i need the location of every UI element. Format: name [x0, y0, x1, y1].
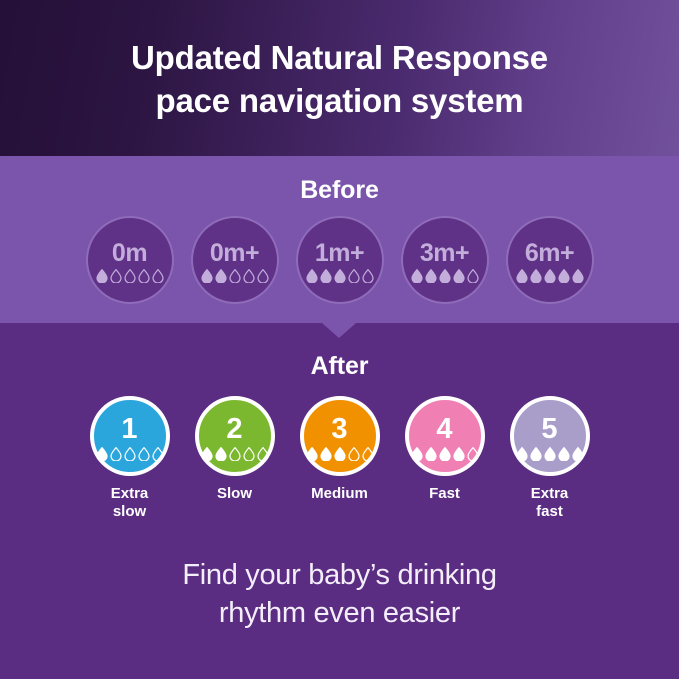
before-age-label: 0m	[112, 240, 147, 266]
water-drop-icon	[152, 447, 164, 461]
page-title: Updated Natural Response pace navigation…	[0, 36, 679, 122]
water-drop-icon	[411, 447, 423, 461]
footer-tagline-line-1: Find your baby’s drinking	[0, 556, 679, 594]
after-pace-label: Extrafast	[507, 485, 593, 521]
water-drop-icon	[348, 447, 360, 461]
water-drop-icon	[138, 447, 150, 461]
water-drop-icon	[152, 269, 164, 283]
before-circle: 1m+	[296, 216, 384, 304]
water-drop-icon	[320, 447, 332, 461]
before-age-label: 0m+	[210, 240, 259, 266]
drop-meter	[96, 269, 164, 282]
water-drop-icon	[124, 269, 136, 283]
after-pace-label-line-1: Extra	[507, 485, 593, 503]
after-pace-label-line-1: Medium	[297, 485, 383, 503]
after-pace-number: 4	[436, 415, 452, 444]
chevron-down-icon	[322, 323, 356, 338]
after-circle: 3	[300, 396, 380, 476]
water-drop-icon	[334, 269, 346, 283]
after-pace-label: Slow	[192, 485, 278, 503]
after-pace-label: Extraslow	[87, 485, 173, 521]
infographic-poster: Updated Natural Response pace navigation…	[0, 0, 679, 679]
water-drop-icon	[530, 269, 542, 283]
water-drop-icon	[439, 269, 451, 283]
before-circle: 6m+	[506, 216, 594, 304]
drop-meter	[411, 447, 479, 460]
water-drop-icon	[201, 269, 213, 283]
water-drop-icon	[138, 269, 150, 283]
water-drop-icon	[425, 269, 437, 283]
water-drop-icon	[320, 269, 332, 283]
before-age-label: 3m+	[420, 240, 469, 266]
water-drop-icon	[439, 447, 451, 461]
water-drop-icon	[243, 447, 255, 461]
drop-meter	[306, 447, 374, 460]
water-drop-icon	[411, 269, 423, 283]
after-pace-number: 5	[541, 415, 557, 444]
header-band: Updated Natural Response pace navigation…	[0, 0, 679, 156]
water-drop-icon	[572, 269, 584, 283]
water-drop-icon	[362, 269, 374, 283]
after-pace-label-line-2: slow	[87, 503, 173, 521]
before-row: 0m0m+1m+3m+6m+	[0, 216, 679, 304]
drop-meter	[201, 269, 269, 282]
after-row: 1Extraslow2Slow3Medium4Fast5Extrafast	[0, 396, 679, 521]
after-pace-number: 1	[121, 415, 137, 444]
after-item: 3Medium	[287, 396, 392, 503]
after-pace-number: 3	[331, 415, 347, 444]
after-item: 5Extrafast	[497, 396, 602, 521]
water-drop-icon	[229, 447, 241, 461]
after-pace-label: Medium	[297, 485, 383, 503]
after-item: 2Slow	[182, 396, 287, 503]
water-drop-icon	[243, 269, 255, 283]
water-drop-icon	[530, 447, 542, 461]
water-drop-icon	[96, 269, 108, 283]
water-drop-icon	[558, 447, 570, 461]
water-drop-icon	[306, 447, 318, 461]
water-drop-icon	[215, 447, 227, 461]
drop-meter	[516, 447, 584, 460]
after-pace-label-line-1: Extra	[87, 485, 173, 503]
water-drop-icon	[257, 269, 269, 283]
water-drop-icon	[558, 269, 570, 283]
before-heading: Before	[0, 176, 679, 205]
before-age-label: 1m+	[315, 240, 364, 266]
water-drop-icon	[453, 269, 465, 283]
before-circle: 0m+	[191, 216, 279, 304]
water-drop-icon	[110, 269, 122, 283]
after-item: 1Extraslow	[77, 396, 182, 521]
drop-meter	[516, 269, 584, 282]
water-drop-icon	[467, 447, 479, 461]
water-drop-icon	[110, 447, 122, 461]
after-heading: After	[0, 352, 679, 381]
before-item: 0m+	[182, 216, 287, 304]
water-drop-icon	[229, 269, 241, 283]
water-drop-icon	[124, 447, 136, 461]
page-title-line-2: pace navigation system	[0, 79, 679, 122]
water-drop-icon	[516, 447, 528, 461]
water-drop-icon	[516, 269, 528, 283]
water-drop-icon	[453, 447, 465, 461]
water-drop-icon	[348, 269, 360, 283]
before-circle: 3m+	[401, 216, 489, 304]
water-drop-icon	[425, 447, 437, 461]
after-circle: 2	[195, 396, 275, 476]
after-circle: 1	[90, 396, 170, 476]
before-item: 6m+	[497, 216, 602, 304]
footer-tagline-line-2: rhythm even easier	[0, 594, 679, 632]
water-drop-icon	[334, 447, 346, 461]
before-item: 3m+	[392, 216, 497, 304]
after-pace-label-line-2: fast	[507, 503, 593, 521]
drop-meter	[96, 447, 164, 460]
after-pace-number: 2	[226, 415, 242, 444]
after-pace-label-line-1: Fast	[402, 485, 488, 503]
water-drop-icon	[257, 447, 269, 461]
before-item: 0m	[77, 216, 182, 304]
footer-tagline: Find your baby’s drinking rhythm even ea…	[0, 556, 679, 632]
before-age-label: 6m+	[525, 240, 574, 266]
water-drop-icon	[96, 447, 108, 461]
before-item: 1m+	[287, 216, 392, 304]
drop-meter	[201, 447, 269, 460]
drop-meter	[411, 269, 479, 282]
after-item: 4Fast	[392, 396, 497, 503]
water-drop-icon	[306, 269, 318, 283]
drop-meter	[306, 269, 374, 282]
water-drop-icon	[201, 447, 213, 461]
before-circle: 0m	[86, 216, 174, 304]
water-drop-icon	[544, 447, 556, 461]
page-title-line-1: Updated Natural Response	[0, 36, 679, 79]
water-drop-icon	[215, 269, 227, 283]
after-circle: 5	[510, 396, 590, 476]
water-drop-icon	[362, 447, 374, 461]
water-drop-icon	[544, 269, 556, 283]
after-circle: 4	[405, 396, 485, 476]
after-pace-label-line-1: Slow	[192, 485, 278, 503]
after-pace-label: Fast	[402, 485, 488, 503]
water-drop-icon	[467, 269, 479, 283]
water-drop-icon	[572, 447, 584, 461]
